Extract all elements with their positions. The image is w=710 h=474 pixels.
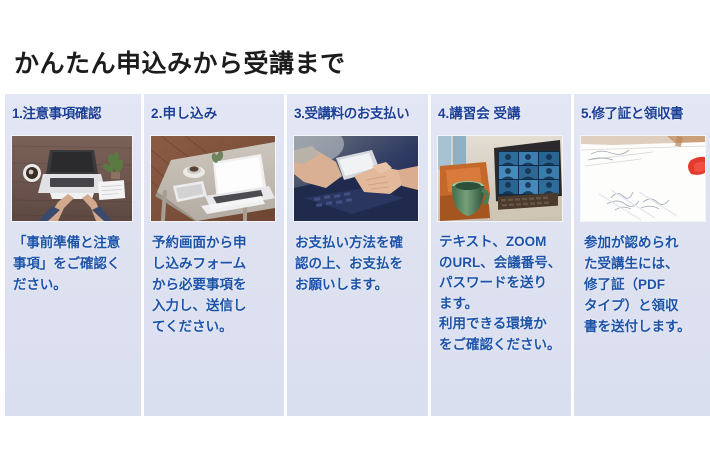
step-column-2: 2.申し込み [144,94,287,416]
step-column-5: 5.修了証と領収書 [574,94,710,416]
overhead-desk-laptop-photo [12,136,132,221]
step-column-3: 3.受講料のお支払い [287,94,431,416]
step-heading-5: 5.修了証と領収書 [581,102,706,122]
step-heading-4: 4.講習会 受講 [438,102,567,122]
step-body-5: 参加が認められ た受講生には、 修了証（PDF タイプ）と領収 書を送付します。 [584,232,704,337]
page-title: かんたん申込みから受講まで [14,44,346,80]
step-body-2: 予約画面から申 し込みフォーム から必要事項を 入力し、送信し てください。 [152,232,278,337]
certificate-document-photo [581,136,705,221]
laptop-zoom-meeting-photo [438,136,562,221]
step-heading-2: 2.申し込み [151,102,280,122]
step-body-4: テキスト、ZOOM のURL、会議番号、 パスワードを送り ます。 利用できる環… [439,232,565,355]
step-body-1: 「事前準備と注意 事項」をご確認く ださい。 [13,232,135,295]
step-column-4: 4.講習会 受講 [431,94,574,416]
step-column-1: 1.注意事項確認 [5,94,144,416]
step-heading-1: 1.注意事項確認 [12,102,137,122]
step-body-3: お支払い方法を確 認の上、お支払を お願いします。 [295,232,422,295]
desk-laptop-notebook-photo [151,136,275,221]
step-heading-3: 3.受講料のお支払い [294,102,424,122]
hands-smartphone-laptop-photo [294,136,418,221]
steps-strip: 1.注意事項確認 [5,94,710,416]
